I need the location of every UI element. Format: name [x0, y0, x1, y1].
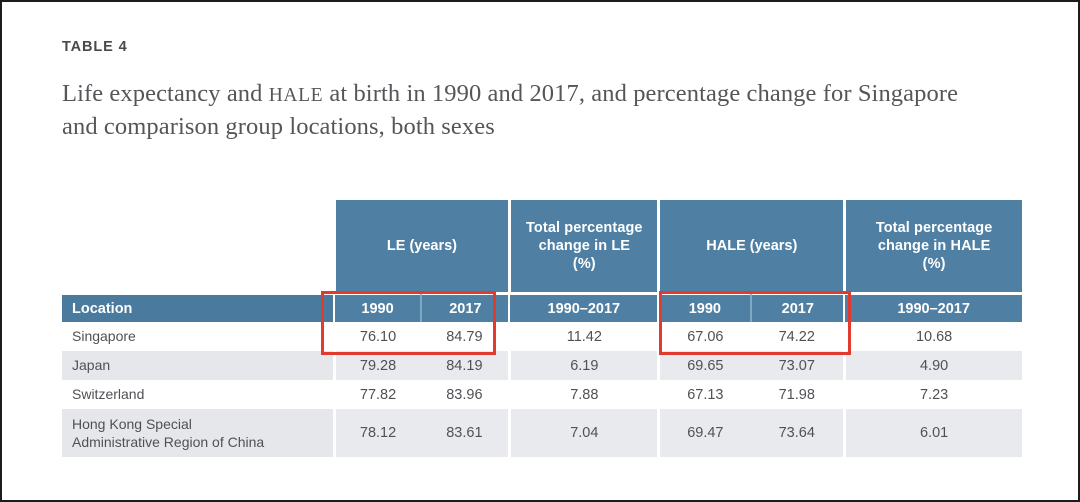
table-label: TABLE 4 — [62, 40, 1022, 55]
column-header-le-1990: 1990 — [333, 292, 421, 322]
column-header-pct-hale-range: 1990–2017 — [843, 292, 1022, 322]
table-row: Singapore 76.10 84.79 11.42 67.06 74.22 … — [62, 322, 1022, 351]
cell-le-2017: 83.61 — [420, 409, 508, 457]
cell-location: Hong Kong Special Administrative Region … — [62, 409, 333, 457]
cell-pct-le: 11.42 — [508, 322, 657, 351]
title-part-1: Life expectancy and — [62, 80, 269, 107]
cell-hale-1990: 69.65 — [657, 351, 750, 380]
column-header-hale-1990: 1990 — [657, 292, 750, 322]
group-header-hale: HALE (years) — [657, 200, 843, 292]
column-header-location: Location — [62, 292, 333, 322]
group-header-pct-le-line3: (%) — [511, 255, 657, 273]
cell-hale-1990: 67.06 — [657, 322, 750, 351]
life-expectancy-table: LE (years) Total percentage change in LE… — [62, 200, 1022, 457]
group-header-le: LE (years) — [333, 200, 509, 292]
sub-header-row: Location 1990 2017 1990–2017 1990 2017 1… — [62, 292, 1022, 322]
group-header-pct-hale: Total percentage change in HALE (%) — [843, 200, 1022, 292]
cell-pct-hale: 10.68 — [843, 322, 1022, 351]
cell-hale-2017: 74.22 — [750, 322, 843, 351]
title-smallcaps-hale: HALE — [269, 85, 323, 106]
cell-location: Japan — [62, 351, 333, 380]
column-header-hale-2017: 2017 — [750, 292, 843, 322]
cell-pct-le: 7.04 — [508, 409, 657, 457]
group-header-pct-hale-line1: Total percentage — [846, 219, 1022, 237]
cell-location: Switzerland — [62, 380, 333, 409]
table-row: Japan 79.28 84.19 6.19 69.65 73.07 4.90 — [62, 351, 1022, 380]
cell-pct-le: 7.88 — [508, 380, 657, 409]
table-head: LE (years) Total percentage change in LE… — [62, 200, 1022, 322]
table-body: Singapore 76.10 84.79 11.42 67.06 74.22 … — [62, 322, 1022, 457]
cell-hale-2017: 73.64 — [750, 409, 843, 457]
document-page: TABLE 4 Life expectancy and HALE at birt… — [0, 0, 1080, 502]
page-title: Life expectancy and HALE at birth in 199… — [62, 77, 962, 145]
table-row: Hong Kong Special Administrative Region … — [62, 409, 1022, 457]
cell-pct-hale: 7.23 — [843, 380, 1022, 409]
cell-le-1990: 76.10 — [333, 322, 421, 351]
cell-hale-1990: 69.47 — [657, 409, 750, 457]
cell-le-2017: 83.96 — [420, 380, 508, 409]
group-header-pct-le-line2: change in LE — [511, 237, 657, 255]
cell-pct-hale: 4.90 — [843, 351, 1022, 380]
table-row: Switzerland 77.82 83.96 7.88 67.13 71.98… — [62, 380, 1022, 409]
cell-hale-2017: 71.98 — [750, 380, 843, 409]
cell-le-1990: 78.12 — [333, 409, 421, 457]
cell-location: Singapore — [62, 322, 333, 351]
table-caption: TABLE 4 Life expectancy and HALE at birt… — [62, 40, 1022, 144]
cell-le-1990: 77.82 — [333, 380, 421, 409]
cell-pct-hale: 6.01 — [843, 409, 1022, 457]
cell-le-2017: 84.19 — [420, 351, 508, 380]
cell-location-line1: Hong Kong Special — [72, 415, 333, 433]
cell-le-2017: 84.79 — [420, 322, 508, 351]
cell-hale-1990: 67.13 — [657, 380, 750, 409]
group-header-pct-hale-line3: (%) — [846, 255, 1022, 273]
column-header-le-2017: 2017 — [420, 292, 508, 322]
group-header-blank — [62, 200, 333, 292]
group-header-pct-le: Total percentage change in LE (%) — [508, 200, 657, 292]
group-header-row: LE (years) Total percentage change in LE… — [62, 200, 1022, 292]
cell-pct-le: 6.19 — [508, 351, 657, 380]
group-header-pct-hale-line2: change in HALE — [846, 237, 1022, 255]
title-part-2: at birth in 1990 and 2017, and percentag… — [323, 80, 851, 107]
cell-le-1990: 79.28 — [333, 351, 421, 380]
group-header-pct-le-line1: Total percentage — [511, 219, 657, 237]
cell-location-line2: Administrative Region of China — [72, 433, 333, 451]
cell-hale-2017: 73.07 — [750, 351, 843, 380]
column-header-pct-le-range: 1990–2017 — [508, 292, 657, 322]
